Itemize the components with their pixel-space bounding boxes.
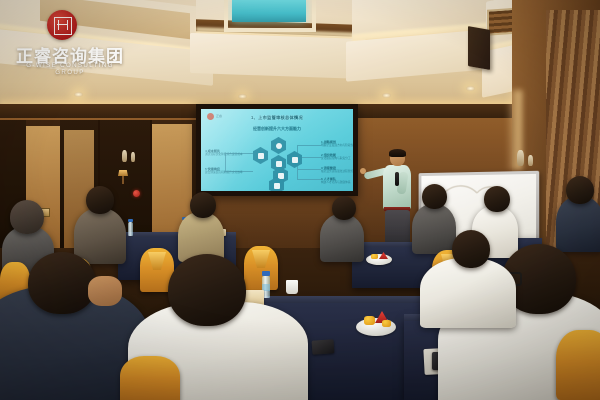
chair-gold-cover <box>556 330 600 400</box>
chair-sash <box>252 250 270 268</box>
decorative-vase <box>528 155 533 166</box>
chair-sash <box>148 252 166 270</box>
slide-right-label: 1 战略规划 明确企业发展方向与阶段性目标 <box>321 140 353 148</box>
gwise-seal-icon <box>47 10 77 40</box>
attendee-near-whiteboard <box>412 204 456 254</box>
skylight-frame <box>224 0 316 32</box>
attendee-back-left-suit <box>74 208 126 264</box>
decorative-vase <box>122 150 127 162</box>
fruit-orange <box>371 254 378 259</box>
water-bottle <box>128 222 133 236</box>
seminar-photo: 标识 正睿 1、上市监管审核总体情况 经营创新提升六大方面能力 <box>0 0 600 400</box>
fruit-plate <box>366 254 392 265</box>
hex-question-icon <box>271 137 286 154</box>
lamp-stem <box>122 176 124 184</box>
hex-gear-icon <box>253 147 268 164</box>
presenter-left-hand <box>360 168 366 174</box>
attendee-head <box>190 192 216 218</box>
attendee-head <box>10 200 44 234</box>
attendee-head <box>452 230 490 268</box>
slide-left-label-detail: 通过流程优化降低综合运营成本 <box>205 153 243 157</box>
bottle-cap <box>262 271 270 276</box>
ceiling-downlight <box>466 86 475 91</box>
chair-gold-cover <box>244 246 278 290</box>
smartphone <box>312 339 335 355</box>
attendee-head <box>28 252 96 314</box>
slide-right-label: 2 组织效能 优化组织架构与职责分工 <box>321 153 351 161</box>
wall-red-accent <box>133 190 140 197</box>
attendee-head <box>422 184 447 209</box>
slide-left-label: 5 快速响应 建立快速反应机制提升交付效率 <box>205 167 243 175</box>
slide-right-label-detail: 构建人才培养与激励体系 <box>321 181 351 185</box>
attendee-mid-right-white <box>420 258 516 328</box>
attendee-hand <box>88 276 122 306</box>
attendee-far-right-navy <box>556 196 600 252</box>
attendee-head <box>484 186 510 212</box>
slide-left-label-detail: 建立快速反应机制提升交付效率 <box>205 171 243 175</box>
handheld-microphone <box>395 172 399 186</box>
teacup <box>286 280 298 294</box>
watermark-english-name: G-WISE CONSULTING GROUP <box>12 62 128 76</box>
slide-hex-diagram: 4 成本领先 通过流程优化降低综合运营成本 5 快速响应 建立快速反应机制提升交… <box>201 109 353 191</box>
projection-screen[interactable]: 正睿 1、上市监管审核总体情况 经营创新提升六大方面能力 4 成本领先 通过流程… <box>201 109 353 191</box>
ceiling-speaker <box>468 26 490 70</box>
hex-document-icon <box>287 151 302 168</box>
decorative-vase <box>517 150 524 166</box>
fruit-orange <box>364 316 375 325</box>
slide-right-label-detail: 规范业务流程强化过程管控 <box>321 170 353 174</box>
chair-gold-cover <box>120 356 180 400</box>
attendee-head <box>86 186 114 214</box>
attendee-head <box>566 176 594 204</box>
decorative-vase <box>131 152 135 162</box>
slide-left-label: 4 成本领先 通过流程优化降低综合运营成本 <box>205 149 243 157</box>
fruit-orange <box>382 320 391 327</box>
gwise-logo-watermark: 正睿咨询集团 G-WISE CONSULTING GROUP <box>12 10 128 72</box>
decorative-lamp <box>118 170 128 184</box>
slide-right-label-detail: 优化组织架构与职责分工 <box>321 157 351 161</box>
slide-right-label: 6 人才梯队 构建人才培养与激励体系 <box>321 177 351 185</box>
attendee-head <box>332 196 356 220</box>
gwise-glyph-icon <box>54 17 72 35</box>
attendee-mid-center-gray <box>320 214 364 262</box>
slide-right-label: 3 流程管控 规范业务流程强化过程管控 <box>321 166 353 174</box>
bottle-cap <box>128 219 133 222</box>
presenter-hair <box>389 149 406 157</box>
attendee-head <box>168 254 246 326</box>
slide-right-label-detail: 明确企业发展方向与阶段性目标 <box>321 144 353 148</box>
